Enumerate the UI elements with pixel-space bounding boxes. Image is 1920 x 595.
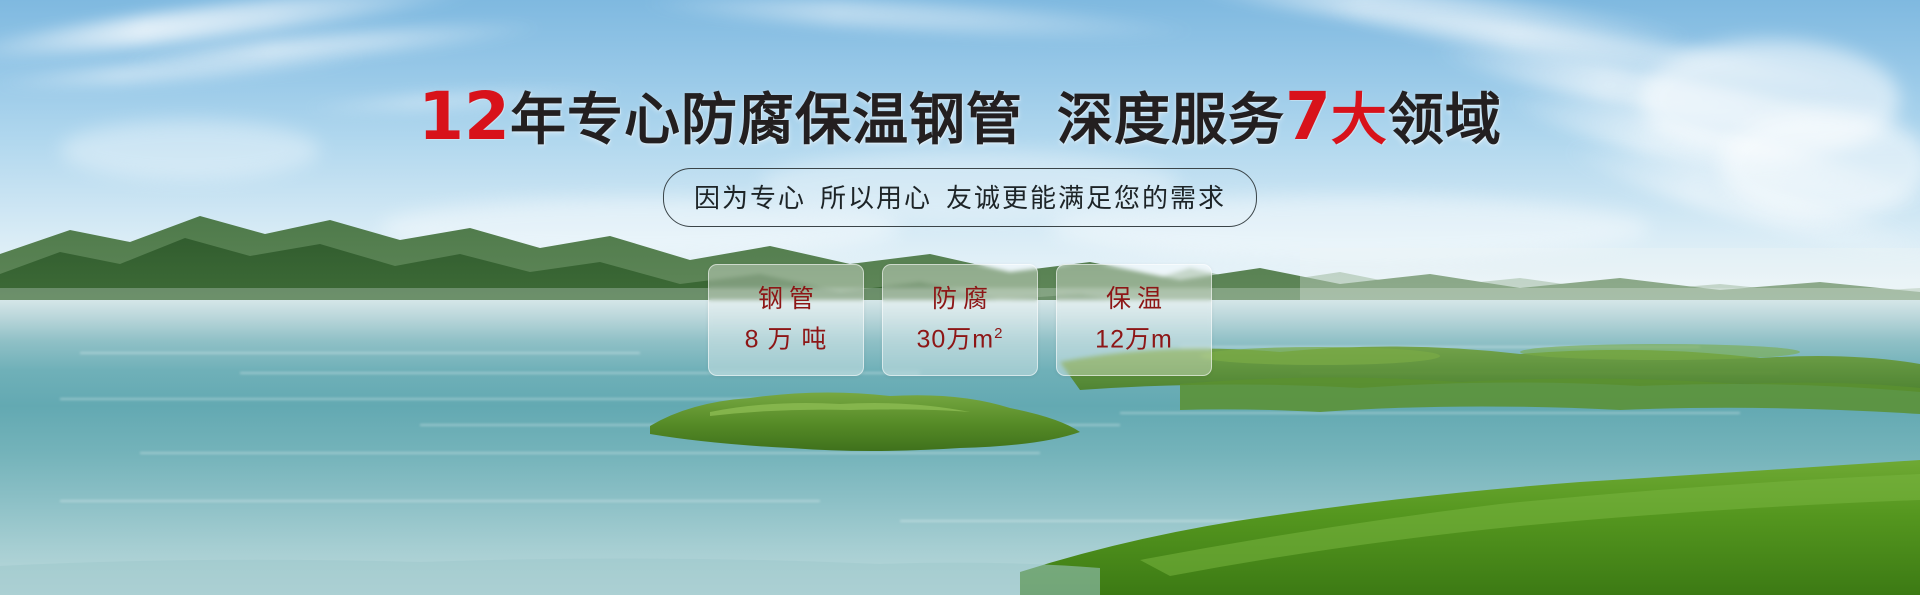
stat-card-value-text: 12万m (1095, 326, 1173, 354)
subtitle-seg-1: 因为专心 (694, 183, 806, 213)
headline-red-char: 大 (1331, 88, 1388, 151)
headline-part-3: 领域 (1388, 88, 1502, 151)
stat-card-value-text: 30万m (917, 326, 995, 354)
stat-card-value: 12万m (1095, 326, 1173, 352)
stat-card-value: 30万m2 (917, 326, 1004, 352)
subtitle-pill: 因为专心所以用心友诚更能满足您的需求 (663, 168, 1257, 227)
stat-card-steel-pipe: 钢管 8 万 吨 (708, 264, 864, 376)
stat-card-group: 钢管 8 万 吨 防腐 30万m2 保温 12万m (708, 264, 1212, 376)
stat-card-label: 防腐 (926, 287, 994, 312)
stat-card-value-text: 8 万 吨 (745, 326, 828, 354)
headline-part-1: 年专心防腐保温钢管 (510, 88, 1023, 151)
page-title: 12年专心防腐保温钢管深度服务7大领域 (0, 84, 1920, 150)
headline-fields-number: 7 (1285, 78, 1331, 155)
stat-card-value: 8 万 吨 (745, 326, 828, 352)
stat-card-anticorrosion: 防腐 30万m2 (882, 264, 1038, 376)
headline-part-2: 深度服务 (1057, 88, 1285, 151)
stat-card-label: 钢管 (752, 287, 820, 312)
promo-banner: 12年专心防腐保温钢管深度服务7大领域 因为专心所以用心友诚更能满足您的需求 钢… (0, 0, 1920, 595)
stat-card-label: 保温 (1100, 287, 1168, 312)
stat-card-insulation: 保温 12万m (1056, 264, 1212, 376)
stat-card-unit-exponent: 2 (994, 325, 1003, 342)
subtitle-seg-3: 友诚更能满足您的需求 (946, 183, 1226, 213)
subtitle-seg-2: 所以用心 (820, 183, 932, 213)
headline-years-number: 12 (418, 78, 510, 155)
